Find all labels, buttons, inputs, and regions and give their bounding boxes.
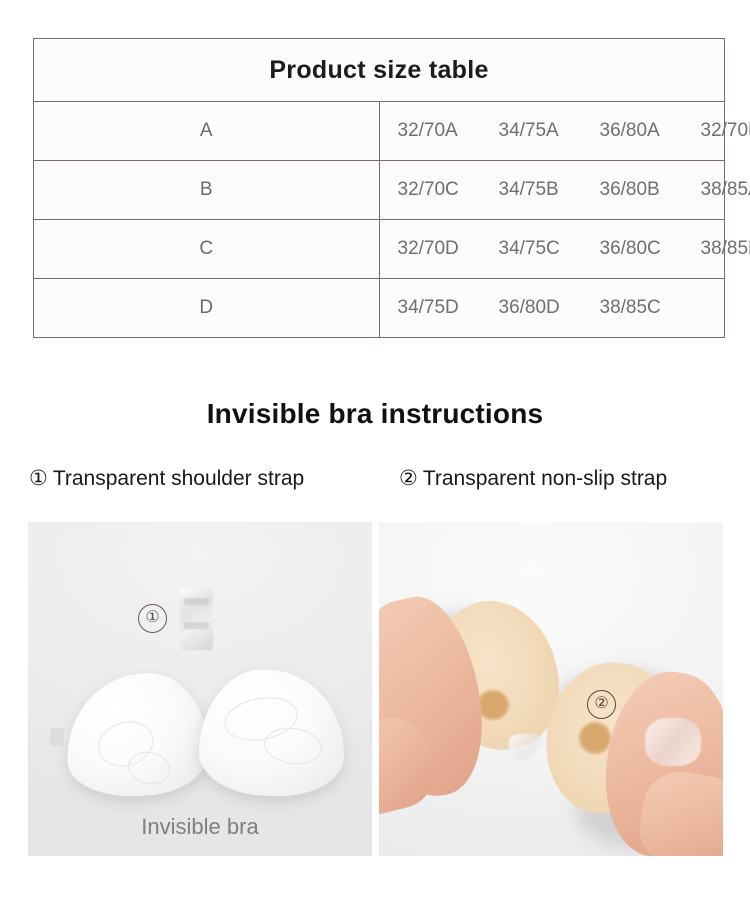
size-table-container: Product size table A 32/70A34/75A36/80A3… (33, 38, 725, 338)
size-value: 36/80B (600, 179, 701, 201)
size-value: 36/80D (499, 297, 600, 319)
bra-clasp-tab (50, 728, 64, 746)
step-caption-1: ①Transparent shoulder strap (29, 466, 304, 491)
step-captions-row: ①Transparent shoulder strap ②Transparent… (0, 466, 750, 498)
size-value: 32/70B (701, 120, 750, 142)
size-value: 34/75C (499, 238, 600, 260)
table-row: D 34/75D36/80D38/85C (34, 279, 725, 338)
size-table-title: Product size table (34, 39, 725, 102)
photo-marker-1: ① (138, 604, 167, 633)
circled-number-2-icon: ② (399, 467, 418, 490)
photo-non-slip-strap: ② (379, 522, 723, 856)
photo-invisible-bra: ① Invisible bra (28, 522, 372, 856)
product-size-table: Product size table A 32/70A34/75A36/80A3… (33, 38, 725, 338)
sizes-row-b: 32/70C34/75B36/80B38/85A (379, 161, 725, 220)
size-value: 36/80C (600, 238, 701, 260)
size-value: 36/80A (600, 120, 701, 142)
step-caption-2: ②Transparent non-slip strap (399, 466, 667, 491)
size-value: 38/85C (600, 297, 701, 319)
step-1-label: Transparent shoulder strap (53, 467, 304, 490)
size-value: 34/75D (398, 297, 499, 319)
table-title-row: Product size table (34, 39, 725, 102)
step-2-label: Transparent non-slip strap (423, 467, 667, 490)
cup-label-c: C (34, 220, 380, 279)
transparent-shoulder-strap-clip (180, 588, 213, 650)
transparent-non-slip-strap (645, 718, 701, 766)
transparent-strap-piece (509, 734, 543, 760)
sizes-row-a: 32/70A34/75A36/80A32/70B (379, 102, 725, 161)
table-row: A 32/70A34/75A36/80A32/70B (34, 102, 725, 161)
sizes-row-c: 32/70D34/75C36/80C38/85B (379, 220, 725, 279)
cup-label-d: D (34, 279, 380, 338)
circled-number-1-icon: ① (29, 467, 48, 490)
sizes-row-d: 34/75D36/80D38/85C (379, 279, 725, 338)
photo-caption-invisible-bra: Invisible bra (28, 814, 372, 840)
size-value: 38/85A (701, 179, 750, 201)
size-value: 32/70C (398, 179, 499, 201)
size-value: 34/75A (499, 120, 600, 142)
instructions-heading: Invisible bra instructions (0, 398, 750, 430)
table-row: B 32/70C34/75B36/80B38/85A (34, 161, 725, 220)
size-value: 32/70D (398, 238, 499, 260)
table-row: C 32/70D34/75C36/80C38/85B (34, 220, 725, 279)
photo-marker-2: ② (587, 690, 616, 719)
size-value: 38/85B (701, 238, 750, 260)
photo-background (28, 522, 372, 856)
cup-label-a: A (34, 102, 380, 161)
size-value: 32/70A (398, 120, 499, 142)
pad-center-dot (579, 722, 611, 754)
cup-label-b: B (34, 161, 380, 220)
size-value: 34/75B (499, 179, 600, 201)
